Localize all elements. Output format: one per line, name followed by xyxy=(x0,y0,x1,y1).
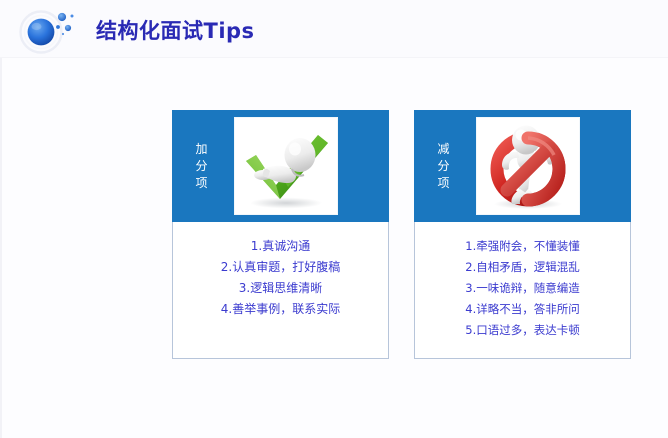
card-minus-points-body: 1.牵强附会，不懂装懂 2.自相矛盾，逻辑混乱 3.一味诡辩，随意编造 4.详略… xyxy=(414,222,631,359)
list-item: 5.口语过多，表达卡顿 xyxy=(421,320,624,341)
figure-with-red-prohibition-icon xyxy=(476,117,580,215)
slide-left-edge xyxy=(0,0,2,438)
card-plus-points-label: 加 分 项 xyxy=(172,141,232,192)
blue-sphere-logo-icon xyxy=(14,8,88,54)
card-minus-points-list: 1.牵强附会，不懂装懂 2.自相矛盾，逻辑混乱 3.一味诡辩，随意编造 4.详略… xyxy=(421,236,624,341)
card-minus-points[interactable]: 减 分 项 xyxy=(414,110,631,359)
card-minus-points-label: 减 分 项 xyxy=(414,141,474,192)
list-item: 3.逻辑思维清晰 xyxy=(179,278,382,299)
card-plus-points-list: 1.真诚沟通 2.认真审题，打好腹稿 3.逻辑思维清晰 4.善举事例，联系实际 xyxy=(179,236,382,320)
card-plus-points-body: 1.真诚沟通 2.认真审题，打好腹稿 3.逻辑思维清晰 4.善举事例，联系实际 xyxy=(172,222,389,359)
list-item: 4.详略不当，答非所问 xyxy=(421,299,624,320)
page-title: 结构化面试Tips xyxy=(96,15,255,45)
slide-canvas: 结构化面试Tips 加 分 项 xyxy=(0,0,668,438)
header-divider xyxy=(0,57,668,58)
card-minus-points-header: 减 分 项 xyxy=(414,110,631,222)
list-item: 2.自相矛盾，逻辑混乱 xyxy=(421,257,624,278)
list-item: 1.真诚沟通 xyxy=(179,236,382,257)
list-item: 3.一味诡辩，随意编造 xyxy=(421,278,624,299)
list-item: 4.善举事例，联系实际 xyxy=(179,299,382,320)
list-item: 2.认真审题，打好腹稿 xyxy=(179,257,382,278)
cards-container: 加 分 项 xyxy=(172,110,632,360)
slide-header: 结构化面试Tips xyxy=(0,0,668,58)
card-plus-points[interactable]: 加 分 项 xyxy=(172,110,389,359)
figure-with-green-check-icon xyxy=(234,117,338,215)
list-item: 1.牵强附会，不懂装懂 xyxy=(421,236,624,257)
card-plus-points-header: 加 分 项 xyxy=(172,110,389,222)
